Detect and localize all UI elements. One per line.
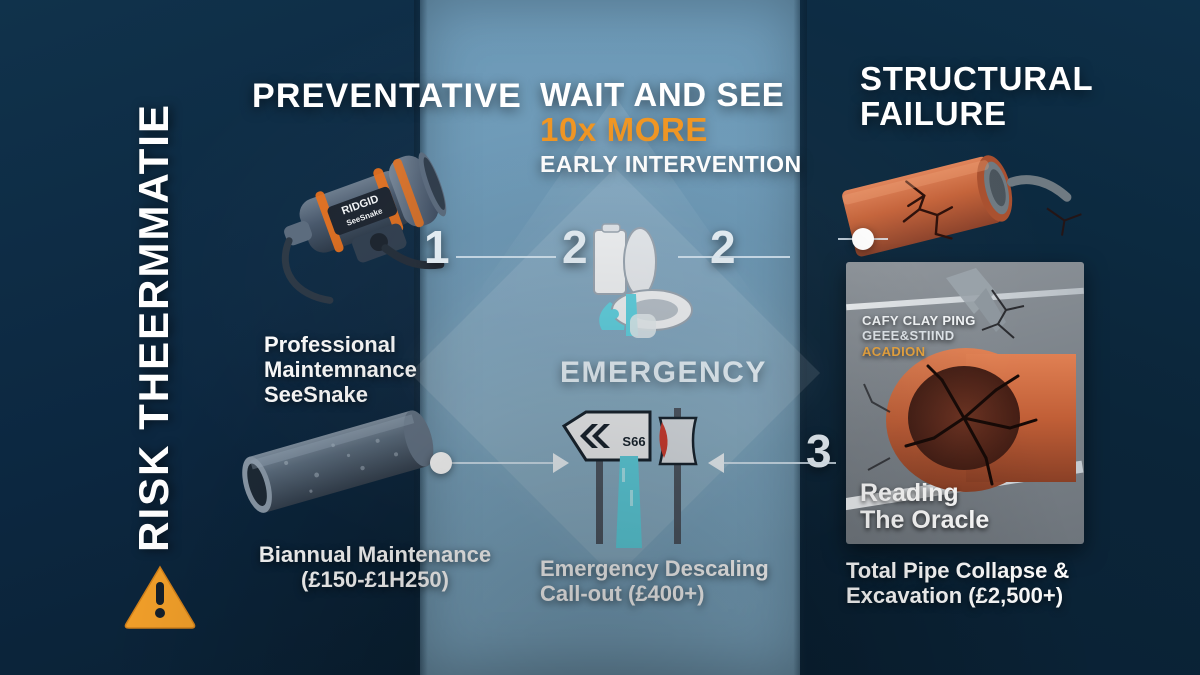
- flooded-road-signs-illustration: S66: [558, 398, 738, 548]
- caption-professional-maintenance: Professional Maintemnance SeeSnake: [264, 332, 417, 407]
- connector-dot-right: [852, 228, 874, 250]
- step-marker-2-left: 2: [562, 224, 588, 270]
- cracked-clay-pipe-illustration: [840, 128, 1140, 278]
- heading-wait-line3: EARLY INTERVENTION: [540, 152, 802, 176]
- caption-line: Excavation (£2,500+): [846, 583, 1176, 608]
- card-overlay-line2: GEEE&STIIND: [862, 329, 955, 343]
- connector-line-1: [456, 256, 556, 258]
- label-emergency: EMERGENCY: [560, 356, 760, 390]
- caption-line: Biannual Maintenance: [240, 542, 510, 567]
- arrow-left-icon: [708, 453, 724, 473]
- card-title-line2: The Oracle: [860, 507, 989, 534]
- risk-thermometer-rail: RISK THEERMMATIE: [118, 92, 190, 562]
- card-title-line1: Reading: [860, 480, 989, 507]
- step-marker-2-right: 2: [710, 224, 736, 270]
- rail-title-text: RISK THEERMMATIE: [130, 103, 178, 552]
- infographic-canvas: RISK THEERMMATIE PREVENTATIVE WAIT AND S…: [0, 0, 1200, 675]
- caption-line: Emergency Descaling: [540, 556, 790, 581]
- heading-wait-and-see: WAIT AND SEE 10x MORE EARLY INTERVENTION: [540, 78, 802, 176]
- clean-pipe-illustration: [218, 398, 448, 528]
- caption-emergency-descaling: Emergency Descaling Call-out (£400+): [540, 556, 790, 606]
- heading-preventative: PREVENTATIVE: [252, 78, 522, 114]
- heading-structural-line1: STRUCTURAL: [860, 62, 1093, 97]
- heading-structural-line2: FAILURE: [860, 97, 1093, 132]
- card-title: Reading The Oracle: [860, 480, 989, 534]
- heading-wait-line2: 10x MORE: [540, 113, 802, 148]
- heading-wait-line1: WAIT AND SEE: [540, 78, 802, 113]
- connector-dot-left: [430, 452, 452, 474]
- connector-line-4: [438, 462, 554, 464]
- caption-total-pipe-collapse: Total Pipe Collapse & Excavation (£2,500…: [846, 558, 1176, 608]
- caption-line: Total Pipe Collapse &: [846, 558, 1176, 583]
- caption-line: SeeSnake: [264, 382, 417, 407]
- caption-line: Maintemnance: [264, 357, 417, 382]
- svg-text:S66: S66: [622, 434, 645, 449]
- connector-line-2: [678, 256, 790, 258]
- step-marker-3: 3: [806, 428, 832, 474]
- nested-collapse-card[interactable]: CAFY CLAY PING GEEE&STIIND ACADION Readi…: [846, 262, 1084, 544]
- caption-line: (£150-£1H250): [240, 567, 510, 592]
- overflowing-toilet-illustration: [580, 218, 700, 348]
- caption-line: Call-out (£400+): [540, 581, 790, 606]
- caption-biannual-maintenance: Biannual Maintenance (£150-£1H250): [240, 542, 510, 592]
- card-overlay-line1: CAFY CLAY PING: [862, 314, 976, 328]
- step-marker-1: 1: [424, 224, 450, 270]
- card-overlay-line3: ACADION: [862, 345, 925, 359]
- arrow-right-icon: [553, 453, 569, 473]
- caption-line: Professional: [264, 332, 417, 357]
- heading-structural-failure: STRUCTURAL FAILURE: [860, 62, 1093, 132]
- warning-triangle-icon: [123, 562, 197, 632]
- connector-line-5: [724, 462, 836, 464]
